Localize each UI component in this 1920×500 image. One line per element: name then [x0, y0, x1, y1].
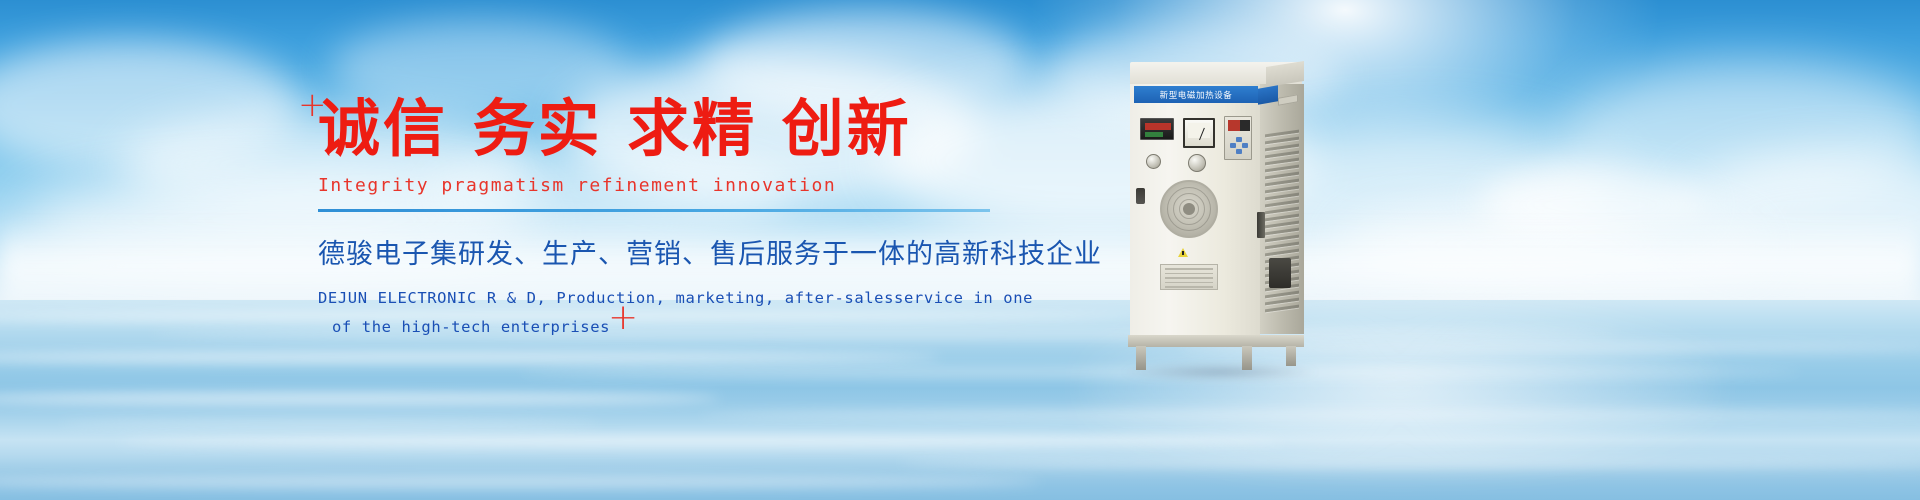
rotary-knob-right[interactable] [1188, 154, 1206, 172]
machine-leg [1136, 346, 1146, 370]
headline-english: Integrity pragmatism refinement innovati… [318, 175, 1038, 196]
rotary-knob-left[interactable] [1146, 154, 1161, 169]
machine-leg [1242, 346, 1252, 370]
promotional-banner: + + 诚信 务实 求精 创新 Integrity pragmatism ref… [0, 0, 1920, 500]
divider-rule [318, 209, 990, 212]
headline-chinese: 诚信 务实 求精 创新 [318, 96, 1038, 161]
machine-label-text: 新型电磁加热设备 [1160, 89, 1233, 101]
spec-plate [1160, 264, 1218, 290]
machine-label: 新型电磁加热设备 [1134, 86, 1258, 103]
machine-base [1128, 335, 1304, 347]
control-keypad[interactable] [1224, 116, 1252, 160]
tagline-chinese: 德骏电子集研发、生产、营销、售后服务于一体的高新科技企业 [318, 232, 1038, 271]
door-handle[interactable] [1257, 212, 1265, 238]
machine-leg [1286, 346, 1296, 366]
digital-meter-icon [1140, 118, 1174, 140]
wave-highlight [900, 458, 1920, 468]
side-connector-box [1269, 258, 1291, 288]
banner-copy: 诚信 务实 求精 创新 Integrity pragmatism refinem… [318, 96, 1038, 341]
machine-shadow [1122, 364, 1318, 380]
tagline-english: DEJUN ELECTRONIC R & D, Production, mark… [318, 284, 1038, 341]
toggle-switch[interactable] [1136, 188, 1145, 204]
ventilation-louvers [1265, 132, 1299, 318]
analog-meter-icon [1183, 118, 1215, 148]
wave-highlight [120, 436, 1280, 447]
tagline-english-line-1: DEJUN ELECTRONIC R & D, Production, mark… [318, 289, 1033, 307]
product-image-heating-machine: 新型电磁加热设备 [1126, 62, 1306, 357]
wave-highlight [60, 420, 600, 427]
cooling-fan-icon [1160, 180, 1218, 238]
tagline-english-line-2: of the high-tech enterprises [318, 313, 1038, 342]
wave-highlight [700, 410, 1920, 419]
